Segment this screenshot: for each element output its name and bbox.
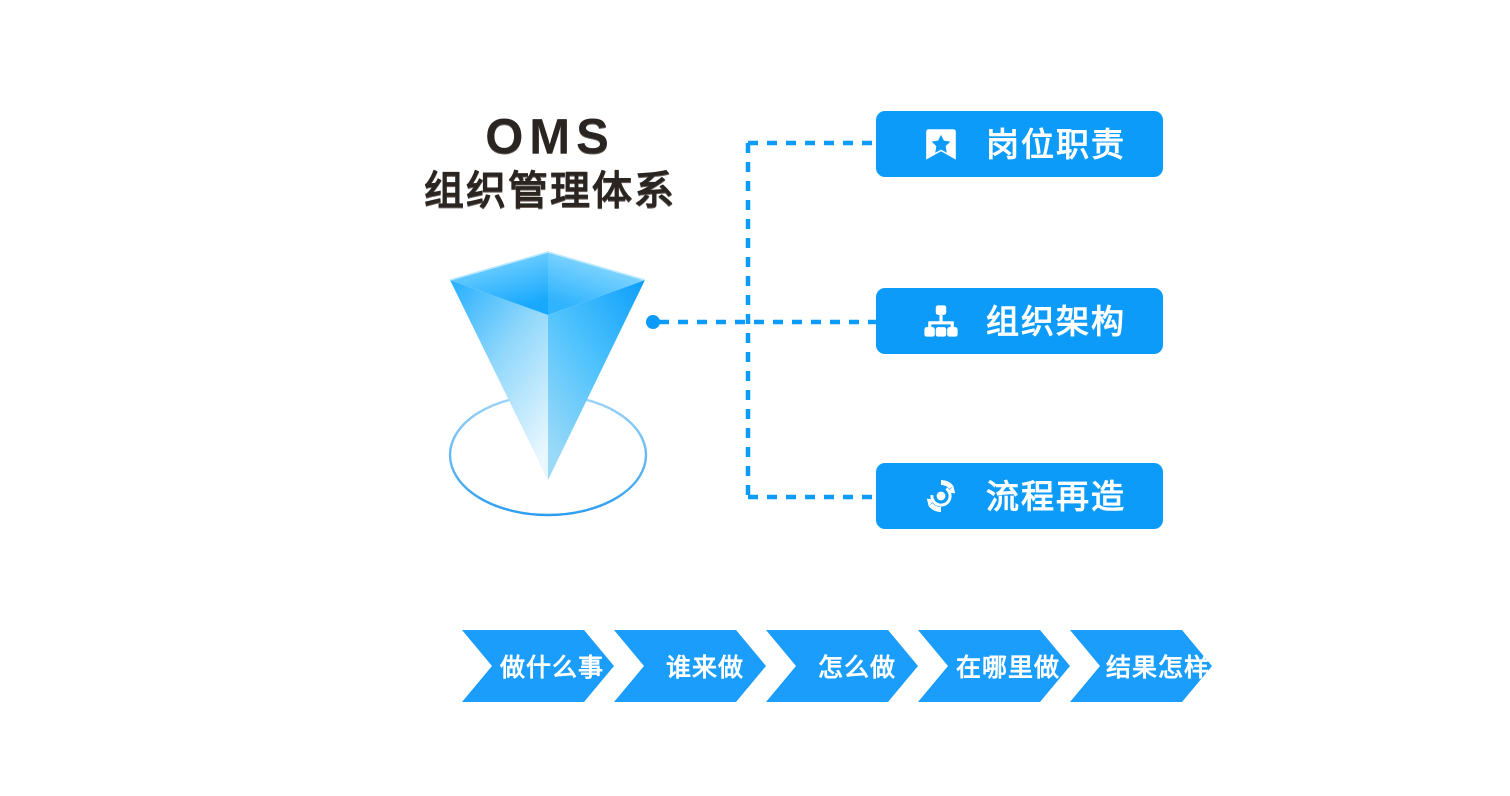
chevron-shapes [462, 630, 1214, 702]
chevron-0[interactable] [462, 630, 614, 702]
chevron-4[interactable] [1070, 630, 1212, 702]
chevron-3[interactable] [918, 630, 1070, 702]
bookmark-star-icon [922, 125, 960, 163]
infographic-canvas: OMS 组织管理体系 [0, 0, 1510, 796]
process-flow-band: 做什么事 谁来做 怎么做 在哪里做 结果怎样 [462, 630, 1214, 702]
pillar-label: 流程再造 [986, 480, 1126, 513]
process-cycle-icon [922, 477, 960, 515]
pillar-button-process-redesign[interactable]: 流程再造 [876, 463, 1163, 529]
pyramid-face-left [450, 280, 548, 480]
pillar-button-org-structure[interactable]: 组织架构 [876, 288, 1163, 354]
connector-lines [630, 100, 890, 520]
pillar-button-job-duties[interactable]: 岗位职责 [876, 111, 1163, 177]
chevron-2[interactable] [766, 630, 918, 702]
chevron-1[interactable] [614, 630, 766, 702]
org-chart-icon [922, 302, 960, 340]
pillar-label: 岗位职责 [986, 128, 1126, 161]
pillar-label: 组织架构 [986, 305, 1126, 338]
trunk-origin-dot [646, 315, 660, 329]
